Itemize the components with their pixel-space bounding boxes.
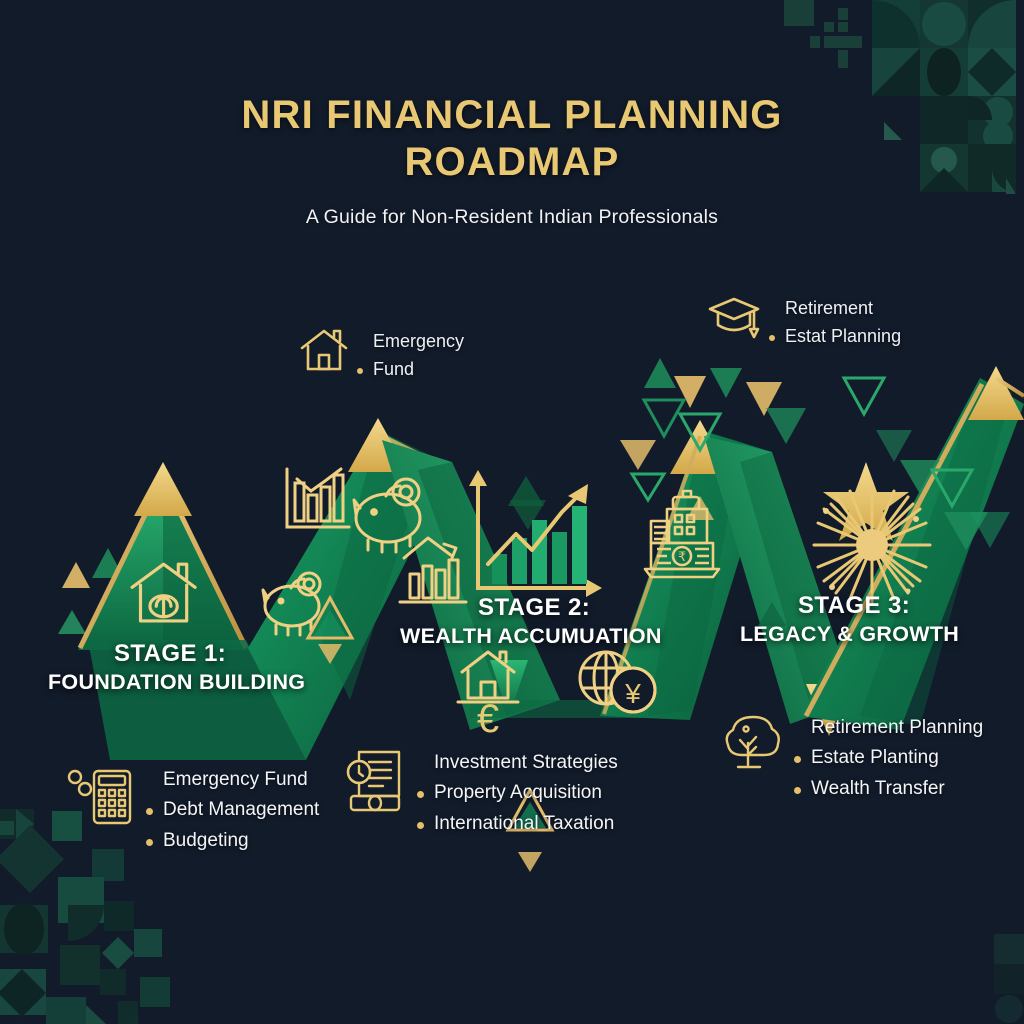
- callout-line: Emergency: [357, 328, 464, 356]
- infographic-poster: NRI FINANCIAL PLANNING ROADMAP A Guide f…: [0, 0, 1024, 1024]
- callout-line: Estat Planning: [769, 323, 901, 351]
- bullet-item: Budgeting: [146, 826, 319, 856]
- stage-3-heading: STAGE 3: LEGACY & GROWTH: [740, 592, 1024, 647]
- graduation-cap-icon: [708, 295, 760, 339]
- stage-2-number: STAGE 2:: [478, 594, 700, 622]
- stage-3-number: STAGE 3:: [798, 592, 1024, 620]
- callout-line: Retirement: [769, 295, 901, 323]
- callout-retirement: Retirement Estat Planning: [708, 295, 901, 351]
- stage-2-name: WEALTH ACCUMUATION: [400, 624, 700, 649]
- tree-icon: [722, 713, 784, 775]
- stage-1-name: FOUNDATION BUILDING: [48, 670, 348, 695]
- stage-1-bullet-list: Emergency Fund Debt Management Budgeting: [146, 765, 319, 856]
- starburst-icon: [814, 487, 930, 603]
- stage-2-bullet-list: Investment Strategies Property Acquisiti…: [417, 748, 618, 839]
- callout-retirement-lines: Retirement Estat Planning: [769, 295, 901, 351]
- bullet-item: Emergency Fund: [146, 765, 319, 795]
- roadmap-graphic: € ¥ ₹: [0, 0, 1024, 1024]
- bullet-item: Investment Strategies: [417, 748, 618, 778]
- stage-3-bullet-list: Retirement Planning Estate Planting Weal…: [794, 713, 983, 804]
- bullet-item: Estate Planting: [794, 743, 983, 773]
- stage-2-heading: STAGE 2: WEALTH ACCUMUATION: [400, 594, 700, 649]
- calculator-icon: [66, 765, 136, 829]
- bullet-item: International Taxation: [417, 809, 618, 839]
- stage-3-name: LEGACY & GROWTH: [740, 622, 1024, 647]
- svg-text:€: €: [477, 697, 499, 741]
- svg-text:₹: ₹: [678, 549, 686, 564]
- bullet-item: Retirement Planning: [794, 713, 983, 743]
- stage-1-number: STAGE 1:: [114, 640, 348, 668]
- bullet-item: Wealth Transfer: [794, 774, 983, 804]
- house-icon: [300, 328, 348, 372]
- svg-text:¥: ¥: [624, 678, 641, 709]
- callout-emergency-lines: Emergency Fund: [357, 328, 464, 384]
- stage-3-bullets: Retirement Planning Estate Planting Weal…: [722, 713, 983, 804]
- stage-1-bullets: Emergency Fund Debt Management Budgeting: [66, 765, 319, 856]
- callout-line: Fund: [357, 356, 464, 384]
- document-clock-icon: [345, 748, 407, 814]
- stage-2-bullets: Investment Strategies Property Acquisiti…: [345, 748, 618, 839]
- stage-1-heading: STAGE 1: FOUNDATION BUILDING: [48, 640, 348, 695]
- bullet-item: Debt Management: [146, 795, 319, 825]
- callout-emergency-fund: Emergency Fund: [300, 328, 464, 384]
- bullet-item: Property Acquisition: [417, 778, 618, 808]
